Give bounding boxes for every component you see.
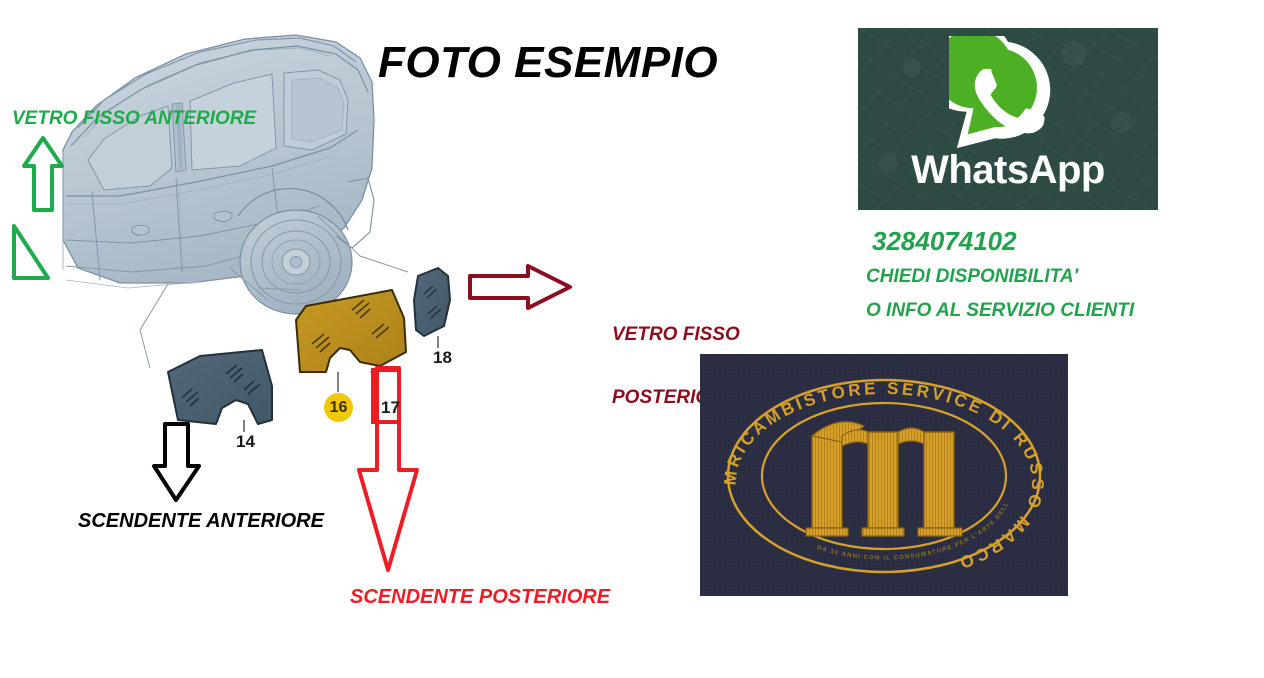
page-title: FOTO ESEMPIO — [378, 38, 718, 88]
triangle-wedge-green-icon — [14, 226, 48, 278]
car-exploded-diagram — [0, 0, 660, 640]
down-arrow-black-icon — [154, 424, 199, 500]
label-scendente-anteriore: SCENDENTE ANTERIORE — [78, 510, 324, 532]
whatsapp-banner: WhatsApp — [858, 28, 1158, 210]
contact-line-2: O INFO AL SERVIZIO CLIENTI — [866, 300, 1134, 322]
label-vetro-fisso-anteriore: VETRO FISSO ANTERIORE — [12, 108, 256, 129]
right-arrow-darkred-icon — [470, 266, 570, 308]
part-14-front-drop-glass — [168, 350, 272, 432]
shop-logo-artwork: MRICAMBISTORE SERVICE DI RUSSO MARCO DA … — [700, 354, 1068, 596]
rear-wheel — [240, 210, 352, 314]
up-arrow-green-icon — [24, 138, 62, 210]
whatsapp-phone-bubble-icon — [949, 36, 1067, 154]
screenshot-canvas: 14 16 17 18 FOTO ESEMPIO VETRO FISSO ANT… — [0, 0, 1264, 678]
part-18-rear-fixed-glass — [414, 268, 450, 348]
label-scendente-posteriore: SCENDENTE POSTERIORE — [350, 586, 610, 608]
label-vetro-fisso-posteriore-line1: VETRO FISSO — [612, 324, 740, 345]
phone-number[interactable]: 3284074102 — [872, 226, 1017, 257]
part-number-18: 18 — [433, 348, 452, 368]
contact-line-1: CHIEDI DISPONIBILITA' — [866, 266, 1078, 288]
part-number-14: 14 — [236, 432, 255, 452]
shop-logo-monogram — [806, 422, 962, 536]
part-number-badge-16: 16 — [324, 393, 353, 422]
car-body-illustration — [63, 35, 374, 314]
whatsapp-wordmark: WhatsApp — [858, 148, 1158, 193]
shop-logo: MRICAMBISTORE SERVICE DI RUSSO MARCO DA … — [700, 354, 1068, 596]
part-number-17: 17 — [381, 398, 400, 418]
